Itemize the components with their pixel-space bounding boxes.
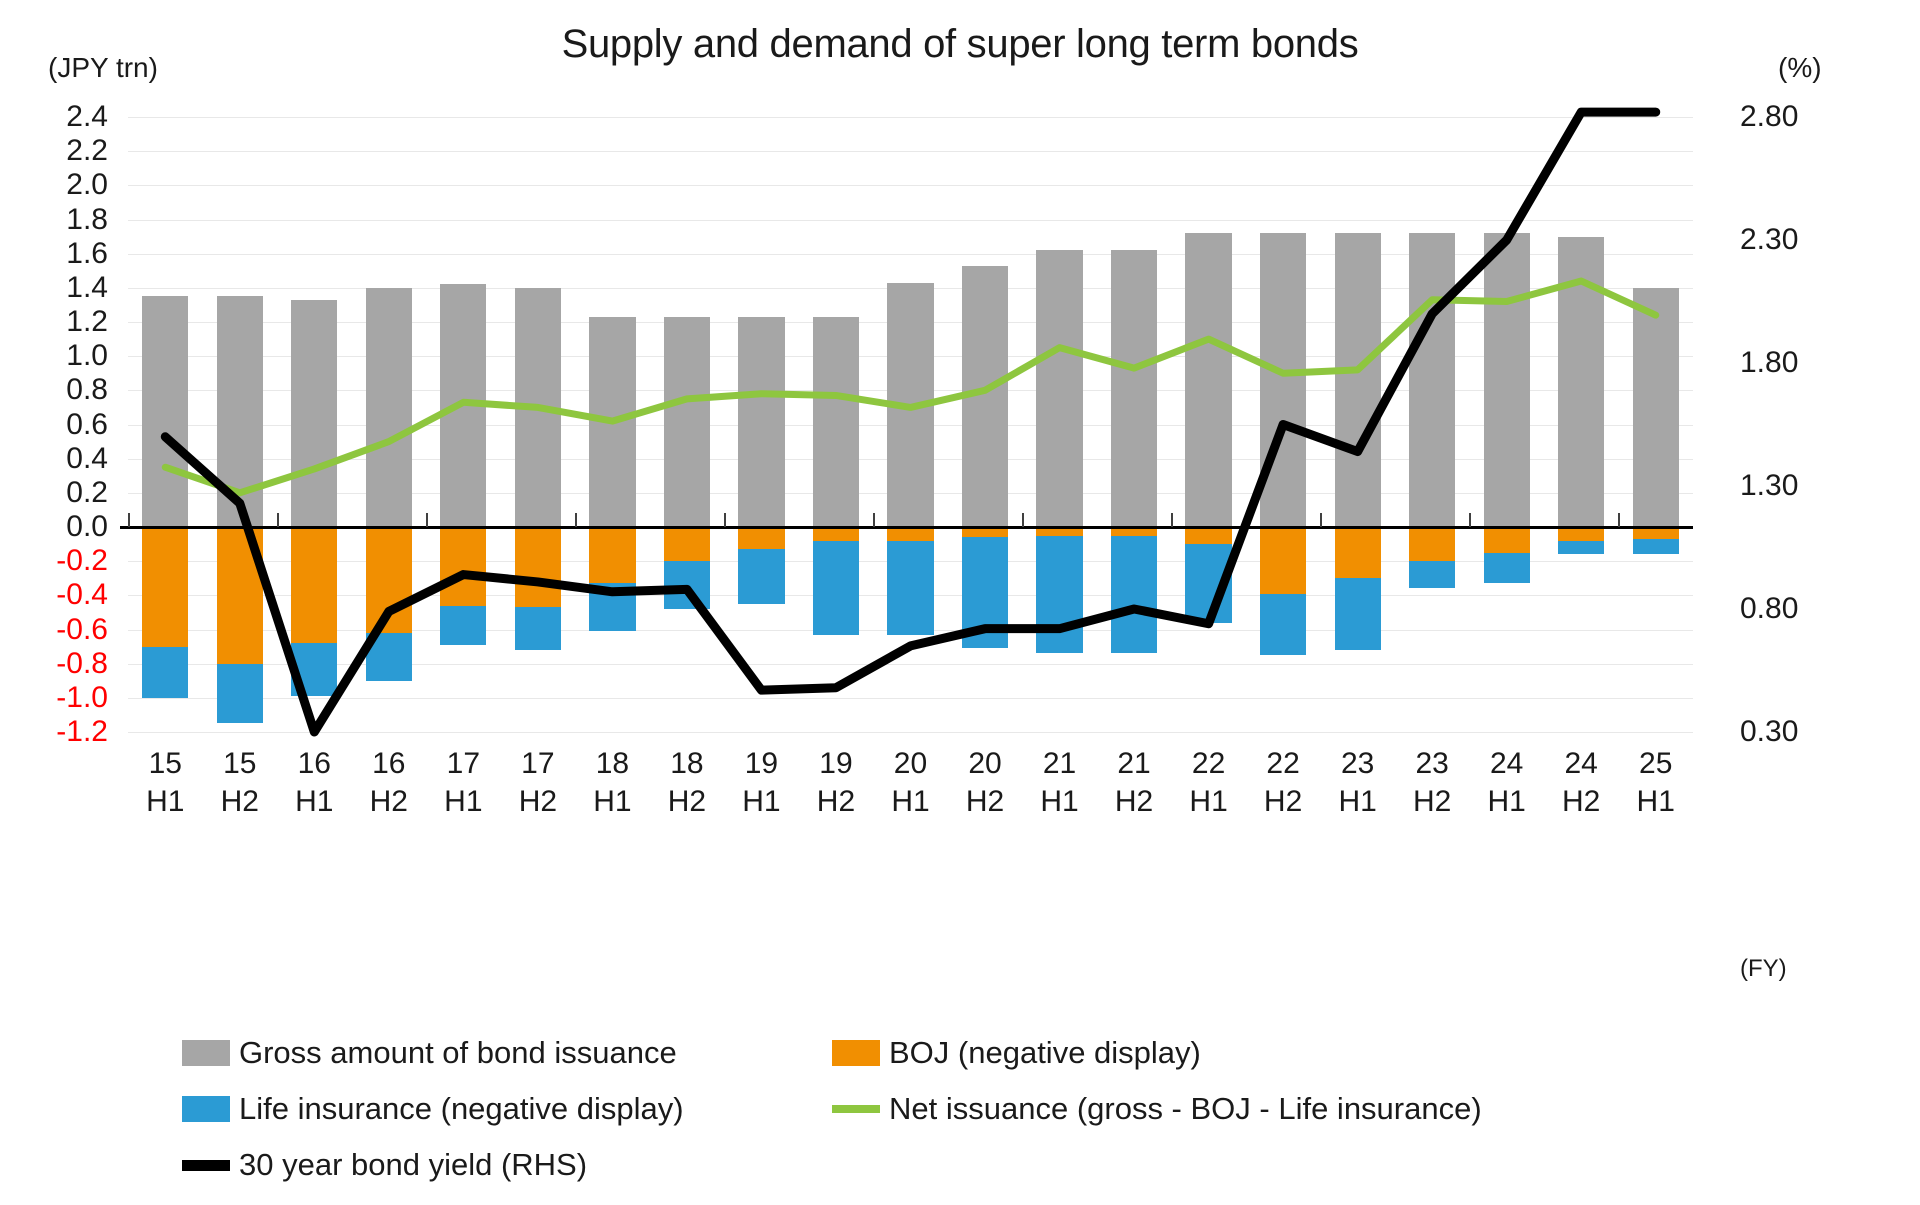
bar-gross-issuance xyxy=(1633,288,1679,527)
y-axis-left-tick-label: 1.0 xyxy=(22,341,108,371)
x-axis-tick-half: H1 xyxy=(1469,783,1544,821)
bar-life-insurance xyxy=(1036,536,1082,654)
x-axis-tick-label: 23H1 xyxy=(1320,745,1395,821)
bar-boj-holdings xyxy=(142,527,188,647)
x-axis-tick-year: 23 xyxy=(1395,745,1470,783)
x-axis-tick-label: 19H1 xyxy=(724,745,799,821)
y-axis-left-tick-label: -0.4 xyxy=(22,580,108,610)
bar-boj-holdings xyxy=(1335,527,1381,578)
x-axis-tick-label: 16H1 xyxy=(277,745,352,821)
bar-group xyxy=(1409,117,1455,732)
x-axis-tick-year: 24 xyxy=(1544,745,1619,783)
legend-label: BOJ (negative display) xyxy=(889,1035,1201,1071)
bar-life-insurance xyxy=(664,561,710,609)
bar-life-insurance xyxy=(1484,553,1530,584)
x-axis-tick-half: H1 xyxy=(724,783,799,821)
legend-row: Life insurance (negative display)Net iss… xyxy=(182,1081,1742,1137)
x-axis-tick-label: 19H2 xyxy=(799,745,874,821)
axis-tick-mark xyxy=(277,513,279,527)
x-axis-unit-label: (FY) xyxy=(1740,955,1787,983)
legend-swatch-gross-icon xyxy=(182,1040,230,1066)
bar-boj-holdings xyxy=(1558,527,1604,541)
x-axis-tick-year: 21 xyxy=(1097,745,1172,783)
right-axis-unit-label: (%) xyxy=(1778,52,1822,84)
axis-tick-mark xyxy=(1171,513,1173,527)
bar-boj-holdings xyxy=(1484,527,1530,553)
bar-group xyxy=(291,117,337,732)
x-axis-tick-half: H2 xyxy=(1395,783,1470,821)
x-axis-tick-year: 19 xyxy=(799,745,874,783)
y-axis-left-tick-label: 1.8 xyxy=(22,205,108,235)
y-axis-left-tick-label: 1.2 xyxy=(22,307,108,337)
y-axis-right-tick-label: 2.30 xyxy=(1740,225,1860,255)
x-axis-tick-label: 25H1 xyxy=(1618,745,1693,821)
x-axis-tick-half: H1 xyxy=(1320,783,1395,821)
x-axis-tick-label: 17H1 xyxy=(426,745,501,821)
bar-life-insurance xyxy=(1558,541,1604,555)
axis-tick-mark xyxy=(873,513,875,527)
bar-group xyxy=(1558,117,1604,732)
bar-life-insurance xyxy=(1633,539,1679,554)
x-axis-tick-half: H2 xyxy=(203,783,278,821)
bar-boj-holdings xyxy=(813,527,859,541)
bar-gross-issuance xyxy=(366,288,412,527)
zero-axis-line xyxy=(120,526,1693,529)
axis-tick-mark xyxy=(724,513,726,527)
bar-group xyxy=(1036,117,1082,732)
x-axis-tick-year: 23 xyxy=(1320,745,1395,783)
x-axis-tick-year: 17 xyxy=(426,745,501,783)
y-axis-left-tick-label: -1.2 xyxy=(22,717,108,747)
legend-label: Life insurance (negative display) xyxy=(239,1091,684,1127)
bar-boj-holdings xyxy=(664,527,710,561)
bar-gross-issuance xyxy=(1558,237,1604,527)
bar-life-insurance xyxy=(1335,578,1381,650)
bar-gross-issuance xyxy=(813,317,859,527)
x-axis-tick-label: 20H2 xyxy=(948,745,1023,821)
x-axis-tick-label: 18H2 xyxy=(650,745,725,821)
x-axis-tick-year: 15 xyxy=(203,745,278,783)
bar-boj-holdings xyxy=(366,527,412,633)
bar-gross-issuance xyxy=(1111,250,1157,527)
x-axis-tick-label: 22H2 xyxy=(1246,745,1321,821)
x-axis-tick-half: H1 xyxy=(128,783,203,821)
legend-swatch-net-icon xyxy=(832,1105,880,1113)
bar-life-insurance xyxy=(366,633,412,681)
legend-item-gross[interactable]: Gross amount of bond issuance xyxy=(182,1035,832,1071)
axis-tick-mark xyxy=(1022,513,1024,527)
legend-swatch-yield-icon xyxy=(182,1160,230,1171)
axis-tick-mark xyxy=(575,513,577,527)
legend-item-yield[interactable]: 30 year bond yield (RHS) xyxy=(182,1147,832,1183)
bar-group xyxy=(1633,117,1679,732)
bar-group xyxy=(142,117,188,732)
bar-boj-holdings xyxy=(589,527,635,583)
bar-life-insurance xyxy=(589,583,635,631)
x-axis-tick-half: H1 xyxy=(873,783,948,821)
legend-label: 30 year bond yield (RHS) xyxy=(239,1147,587,1183)
x-axis-tick-half: H1 xyxy=(1171,783,1246,821)
bar-group xyxy=(962,117,1008,732)
bar-life-insurance xyxy=(291,643,337,696)
x-axis-tick-half: H2 xyxy=(1246,783,1321,821)
x-axis-tick-half: H1 xyxy=(426,783,501,821)
bar-group xyxy=(589,117,635,732)
x-axis-tick-label: 20H1 xyxy=(873,745,948,821)
legend-item-boj[interactable]: BOJ (negative display) xyxy=(832,1035,1201,1071)
bar-life-insurance xyxy=(813,541,859,635)
bar-boj-holdings xyxy=(738,527,784,549)
x-axis-tick-half: H1 xyxy=(1618,783,1693,821)
x-axis-tick-half: H1 xyxy=(575,783,650,821)
x-axis-tick-label: 15H1 xyxy=(128,745,203,821)
axis-tick-mark xyxy=(1469,513,1471,527)
axis-tick-mark xyxy=(1320,513,1322,527)
bar-boj-holdings xyxy=(1409,527,1455,561)
bar-life-insurance xyxy=(1185,544,1231,623)
y-axis-right-tick-label: 0.80 xyxy=(1740,594,1860,624)
x-axis-tick-half: H2 xyxy=(650,783,725,821)
bar-gross-issuance xyxy=(142,296,188,527)
bar-group xyxy=(813,117,859,732)
bar-life-insurance xyxy=(1409,561,1455,588)
y-axis-left-tick-label: -0.8 xyxy=(22,649,108,679)
x-axis-tick-label: 17H2 xyxy=(501,745,576,821)
y-axis-left-tick-label: 1.4 xyxy=(22,273,108,303)
y-axis-right-tick-label: 2.80 xyxy=(1740,102,1860,132)
x-axis-tick-year: 22 xyxy=(1246,745,1321,783)
legend-swatch-boj-icon xyxy=(832,1040,880,1066)
bar-gross-issuance xyxy=(440,284,486,527)
y-axis-left-tick-label: 0.2 xyxy=(22,478,108,508)
y-axis-left-tick-label: 2.2 xyxy=(22,136,108,166)
x-axis-tick-half: H1 xyxy=(1022,783,1097,821)
bar-group xyxy=(366,117,412,732)
legend-item-life[interactable]: Life insurance (negative display) xyxy=(182,1091,832,1127)
bar-gross-issuance xyxy=(664,317,710,527)
bar-life-insurance xyxy=(440,606,486,645)
x-axis-tick-year: 20 xyxy=(873,745,948,783)
y-axis-left-tick-label: 0.8 xyxy=(22,375,108,405)
bar-life-insurance xyxy=(962,537,1008,648)
axis-tick-mark xyxy=(128,513,130,527)
bar-gross-issuance xyxy=(887,283,933,527)
y-axis-left-tick-label: 1.6 xyxy=(22,239,108,269)
legend-row: 30 year bond yield (RHS) xyxy=(182,1137,1742,1193)
x-axis-tick-year: 20 xyxy=(948,745,1023,783)
bar-gross-issuance xyxy=(1036,250,1082,527)
bar-gross-issuance xyxy=(1484,233,1530,527)
bar-gross-issuance xyxy=(738,317,784,527)
x-axis-tick-label: 15H2 xyxy=(203,745,278,821)
x-axis-tick-year: 18 xyxy=(575,745,650,783)
bar-group xyxy=(664,117,710,732)
bar-group xyxy=(515,117,561,732)
x-axis-tick-label: 22H1 xyxy=(1171,745,1246,821)
chart-root: Supply and demand of super long term bon… xyxy=(0,0,1920,1205)
y-axis-left-tick-label: 2.4 xyxy=(22,102,108,132)
left-axis-unit-label: (JPY trn) xyxy=(48,52,158,84)
x-axis-tick-half: H2 xyxy=(1544,783,1619,821)
x-axis-tick-label: 21H2 xyxy=(1097,745,1172,821)
bar-group xyxy=(738,117,784,732)
bar-gross-issuance xyxy=(962,266,1008,527)
x-axis-tick-year: 18 xyxy=(650,745,725,783)
bar-group xyxy=(887,117,933,732)
x-axis-tick-half: H2 xyxy=(501,783,576,821)
bar-gross-issuance xyxy=(291,300,337,527)
bar-group xyxy=(440,117,486,732)
x-axis-tick-label: 23H2 xyxy=(1395,745,1470,821)
bar-boj-holdings xyxy=(291,527,337,643)
legend-swatch-life-icon xyxy=(182,1096,230,1122)
y-axis-right-tick-label: 1.80 xyxy=(1740,348,1860,378)
x-axis-tick-year: 16 xyxy=(352,745,427,783)
y-axis-left-tick-label: -1.0 xyxy=(22,683,108,713)
x-axis-tick-half: H1 xyxy=(277,783,352,821)
x-axis-tick-half: H2 xyxy=(948,783,1023,821)
x-axis-tick-label: 24H1 xyxy=(1469,745,1544,821)
bar-gross-issuance xyxy=(1185,233,1231,527)
bar-boj-holdings xyxy=(217,527,263,664)
y-axis-left-tick-label: 0.6 xyxy=(22,410,108,440)
x-axis-tick-year: 19 xyxy=(724,745,799,783)
bar-gross-issuance xyxy=(1335,233,1381,527)
legend-row: Gross amount of bond issuanceBOJ (negati… xyxy=(182,1025,1742,1081)
bar-gross-issuance xyxy=(589,317,635,527)
bar-boj-holdings xyxy=(1260,527,1306,594)
y-axis-left-tick-label: 2.0 xyxy=(22,170,108,200)
bar-boj-holdings xyxy=(440,527,486,606)
bar-group xyxy=(1185,117,1231,732)
bar-life-insurance xyxy=(1260,594,1306,656)
bar-group xyxy=(1111,117,1157,732)
legend-label: Gross amount of bond issuance xyxy=(239,1035,677,1071)
bar-group xyxy=(217,117,263,732)
bar-life-insurance xyxy=(217,664,263,724)
x-axis-tick-year: 25 xyxy=(1618,745,1693,783)
axis-tick-mark xyxy=(1618,513,1620,527)
x-axis-tick-half: H2 xyxy=(352,783,427,821)
bar-gross-issuance xyxy=(1409,233,1455,527)
y-axis-left-tick-label: -0.2 xyxy=(22,546,108,576)
x-axis-tick-year: 15 xyxy=(128,745,203,783)
bar-life-insurance xyxy=(887,541,933,635)
y-axis-left-tick-label: -0.6 xyxy=(22,615,108,645)
x-axis-tick-label: 18H1 xyxy=(575,745,650,821)
bar-life-insurance xyxy=(738,549,784,604)
y-axis-left-tick-label: 0.0 xyxy=(22,512,108,542)
x-axis-tick-half: H2 xyxy=(1097,783,1172,821)
bar-group xyxy=(1260,117,1306,732)
x-axis-tick-year: 16 xyxy=(277,745,352,783)
gridline xyxy=(128,732,1693,733)
bar-gross-issuance xyxy=(1260,233,1306,527)
bar-life-insurance xyxy=(515,607,561,650)
bar-boj-holdings xyxy=(515,527,561,607)
x-axis-tick-year: 21 xyxy=(1022,745,1097,783)
x-axis-tick-label: 21H1 xyxy=(1022,745,1097,821)
chart-legend: Gross amount of bond issuanceBOJ (negati… xyxy=(182,1025,1742,1193)
legend-item-net[interactable]: Net issuance (gross - BOJ - Life insuran… xyxy=(832,1091,1482,1127)
bar-gross-issuance xyxy=(515,288,561,527)
axis-tick-mark xyxy=(426,513,428,527)
y-axis-right-tick-label: 0.30 xyxy=(1740,717,1860,747)
x-axis-tick-year: 22 xyxy=(1171,745,1246,783)
x-axis-tick-half: H2 xyxy=(799,783,874,821)
bar-gross-issuance xyxy=(217,296,263,527)
bar-boj-holdings xyxy=(1185,527,1231,544)
x-axis-tick-year: 17 xyxy=(501,745,576,783)
x-axis-tick-label: 16H2 xyxy=(352,745,427,821)
bar-boj-holdings xyxy=(887,527,933,541)
legend-label: Net issuance (gross - BOJ - Life insuran… xyxy=(889,1091,1482,1127)
chart-title: Supply and demand of super long term bon… xyxy=(0,22,1920,67)
bar-life-insurance xyxy=(142,647,188,698)
bar-life-insurance xyxy=(1111,536,1157,654)
y-axis-right-tick-label: 1.30 xyxy=(1740,471,1860,501)
x-axis-tick-year: 24 xyxy=(1469,745,1544,783)
plot-area xyxy=(128,117,1693,732)
y-axis-left-tick-label: 0.4 xyxy=(22,444,108,474)
bar-group xyxy=(1484,117,1530,732)
bar-group xyxy=(1335,117,1381,732)
x-axis-tick-label: 24H2 xyxy=(1544,745,1619,821)
